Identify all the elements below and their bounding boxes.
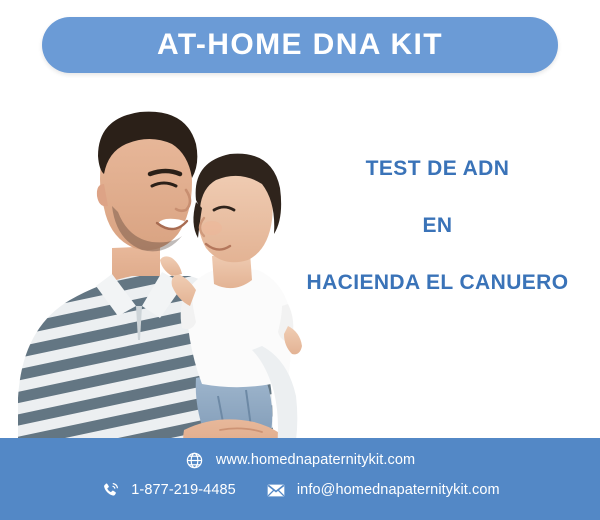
headline-block: TEST DE ADN EN HACIENDA EL CANUERO (285, 158, 590, 293)
website-label: www.homednapaternitykit.com (216, 452, 415, 468)
footer-row-website: www.homednapaternitykit.com (0, 450, 600, 470)
header-banner: AT-HOME DNA KIT (42, 17, 558, 73)
footer-row-phone-email: 1-877-219-4485 info@homednapaternitykit.… (0, 480, 600, 500)
footer-contact-band: www.homednapaternitykit.com 1-877-219-44… (0, 438, 600, 520)
contact-email[interactable]: info@homednapaternitykit.com (266, 480, 500, 500)
globe-icon (185, 450, 205, 470)
page-title: AT-HOME DNA KIT (157, 28, 443, 62)
hero-photo (0, 78, 330, 468)
hero-photo-illustration (0, 78, 330, 468)
email-label: info@homednapaternitykit.com (297, 482, 500, 498)
headline-line-2: EN (285, 215, 590, 236)
envelope-icon (266, 480, 286, 500)
contact-phone[interactable]: 1-877-219-4485 (100, 480, 236, 500)
contact-website[interactable]: www.homednapaternitykit.com (185, 450, 415, 470)
poster-root: AT-HOME DNA KIT (0, 0, 600, 520)
phone-icon (100, 480, 120, 500)
headline-line-3: HACIENDA EL CANUERO (285, 272, 590, 293)
phone-label: 1-877-219-4485 (131, 482, 236, 498)
headline-line-1: TEST DE ADN (285, 158, 590, 179)
